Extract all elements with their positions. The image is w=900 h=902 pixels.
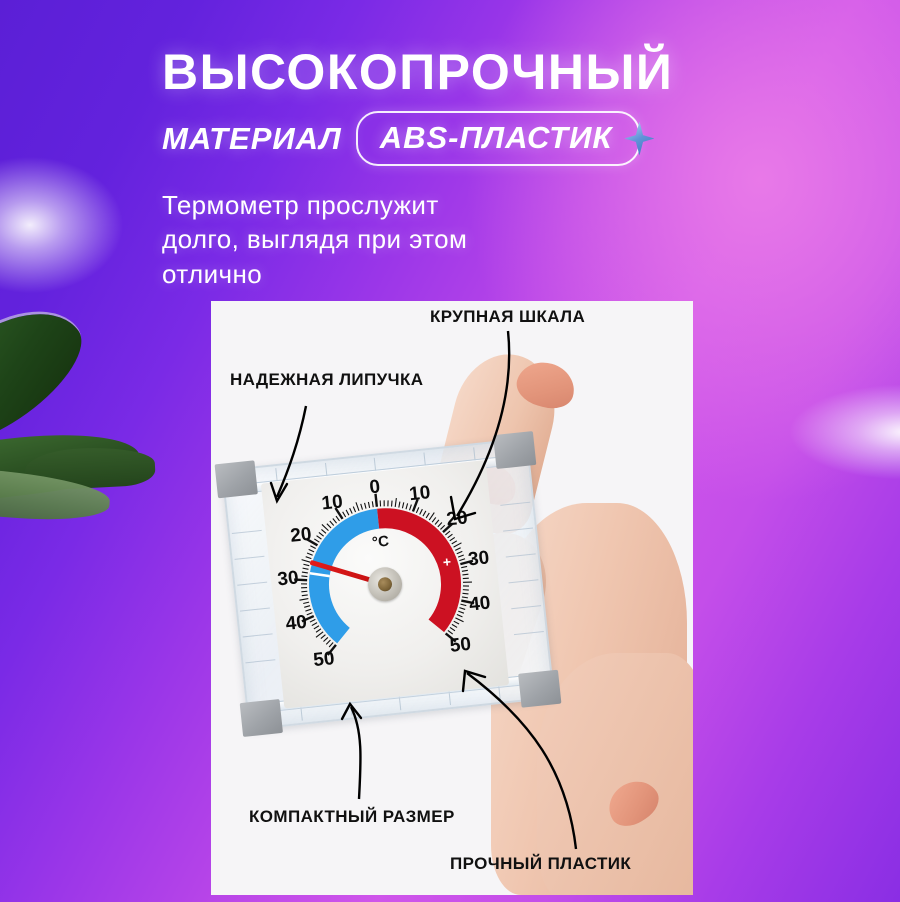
annotation-velcro: НАДЕЖНАЯ ЛИПУЧКА bbox=[230, 370, 423, 390]
description-text: Термометр прослужит долго, выглядя при э… bbox=[162, 188, 802, 291]
description-line-3: отлично bbox=[162, 257, 802, 291]
promo-banner: ВЫСОКОПРОЧНЫЙ МАТЕРИАЛ ABS-ПЛАСТИК Термо… bbox=[0, 0, 900, 902]
dial-number: 10 bbox=[408, 482, 431, 506]
dial-number: 10 bbox=[321, 491, 344, 515]
dial-number: 20 bbox=[289, 524, 312, 548]
unit-label: °C bbox=[371, 533, 390, 552]
material-badge: ABS-ПЛАСТИК bbox=[356, 111, 641, 166]
dial-number: 20 bbox=[445, 507, 468, 531]
subtitle-row: МАТЕРИАЛ ABS-ПЛАСТИК bbox=[162, 111, 802, 166]
dial-number: 50 bbox=[312, 648, 335, 672]
dial-number: 30 bbox=[276, 567, 299, 591]
page-title: ВЫСОКОПРОЧНЫЙ bbox=[162, 46, 802, 99]
dial-number: 40 bbox=[285, 612, 308, 636]
headline-block: ВЫСОКОПРОЧНЫЙ МАТЕРИАЛ ABS-ПЛАСТИК Термо… bbox=[162, 46, 802, 291]
subtitle-prefix: МАТЕРИАЛ bbox=[162, 121, 342, 157]
annotation-large-scale: КРУПНАЯ ШКАЛА bbox=[430, 307, 585, 327]
material-badge-label: ABS-ПЛАСТИК bbox=[380, 120, 613, 155]
plus-sign: + bbox=[442, 553, 452, 570]
dial-face: °C 504030201001020304050+ bbox=[261, 460, 509, 708]
leaf-decoration bbox=[0, 330, 220, 570]
sparkle-icon bbox=[624, 122, 654, 156]
description-line-1: Термометр прослужит bbox=[162, 188, 802, 222]
dial-number: 50 bbox=[449, 633, 472, 657]
adhesive-pad-top-right bbox=[493, 431, 536, 469]
dial-number: 30 bbox=[467, 547, 490, 571]
dial-number: 40 bbox=[468, 592, 491, 616]
adhesive-pad-bottom-left bbox=[240, 699, 283, 737]
thermometer-device: °C 504030201001020304050+ bbox=[221, 438, 555, 731]
description-line-2: долго, выглядя при этом bbox=[162, 222, 802, 256]
dial-number: 0 bbox=[368, 476, 381, 499]
annotation-plastic: ПРОЧНЫЙ ПЛАСТИК bbox=[450, 854, 631, 874]
product-photo-panel: °C 504030201001020304050+ КРУПНАЯ ШКАЛА … bbox=[211, 301, 693, 895]
adhesive-pad-bottom-right bbox=[518, 670, 561, 708]
annotation-compact: КОМПАКТНЫЙ РАЗМЕР bbox=[249, 807, 455, 827]
adhesive-pad-top-left bbox=[215, 460, 258, 498]
